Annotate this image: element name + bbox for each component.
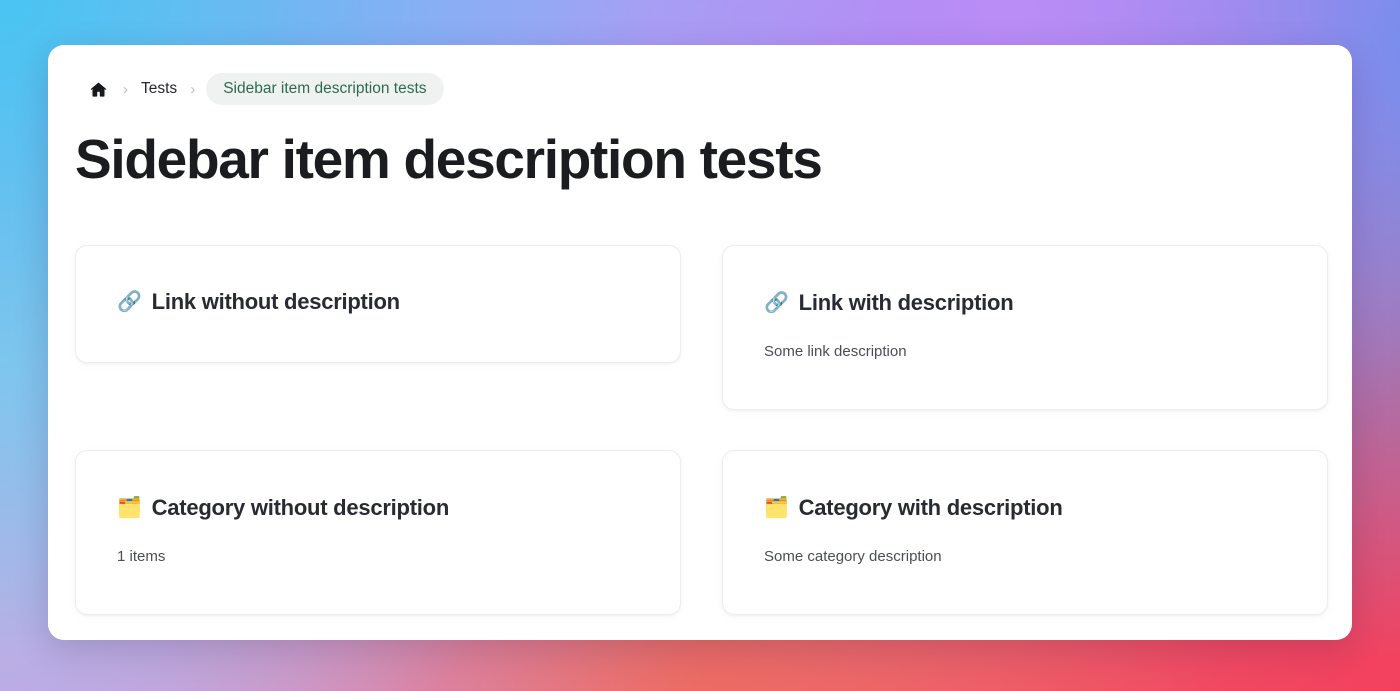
card-grid: 🔗 Link without description 🔗 Link with d… bbox=[75, 245, 1328, 615]
card-title-row: 🔗 Link with description bbox=[764, 289, 1286, 318]
breadcrumb-separator-1: › bbox=[118, 82, 133, 97]
card-title-text: Category without description bbox=[152, 494, 449, 523]
card-title-row: 🗂️ Category with description bbox=[764, 494, 1286, 523]
link-emoji-icon: 🔗 bbox=[117, 292, 142, 312]
main-content-panel: › Tests › Sidebar item description tests… bbox=[48, 45, 1352, 640]
link-emoji-icon: 🔗 bbox=[764, 293, 789, 313]
card-link-with-description[interactable]: 🔗 Link with description Some link descri… bbox=[722, 245, 1328, 410]
card-link-without-description[interactable]: 🔗 Link without description bbox=[75, 245, 681, 363]
page-title: Sidebar item description tests bbox=[75, 128, 822, 191]
card-title-text: Link with description bbox=[799, 289, 1014, 318]
card-title-row: 🔗 Link without description bbox=[117, 288, 639, 317]
card-title-text: Category with description bbox=[799, 494, 1063, 523]
card-index-dividers-emoji-icon: 🗂️ bbox=[764, 498, 789, 518]
card-title-text: Link without description bbox=[152, 288, 400, 317]
card-item-count: 1 items bbox=[117, 546, 639, 567]
card-description: Some link description bbox=[764, 341, 1286, 362]
breadcrumb: › Tests › Sidebar item description tests bbox=[84, 72, 444, 106]
card-category-with-description[interactable]: 🗂️ Category with description Some catego… bbox=[722, 450, 1328, 615]
card-index-dividers-emoji-icon: 🗂️ bbox=[117, 498, 142, 518]
breadcrumb-home-link[interactable] bbox=[84, 75, 112, 103]
breadcrumb-item-current[interactable]: Sidebar item description tests bbox=[206, 73, 443, 105]
card-title-row: 🗂️ Category without description bbox=[117, 494, 639, 523]
card-description: Some category description bbox=[764, 546, 1286, 567]
card-category-without-description[interactable]: 🗂️ Category without description 1 items bbox=[75, 450, 681, 615]
breadcrumb-item-tests[interactable]: Tests bbox=[139, 76, 179, 102]
breadcrumb-separator-2: › bbox=[185, 82, 200, 97]
home-icon bbox=[89, 80, 108, 99]
